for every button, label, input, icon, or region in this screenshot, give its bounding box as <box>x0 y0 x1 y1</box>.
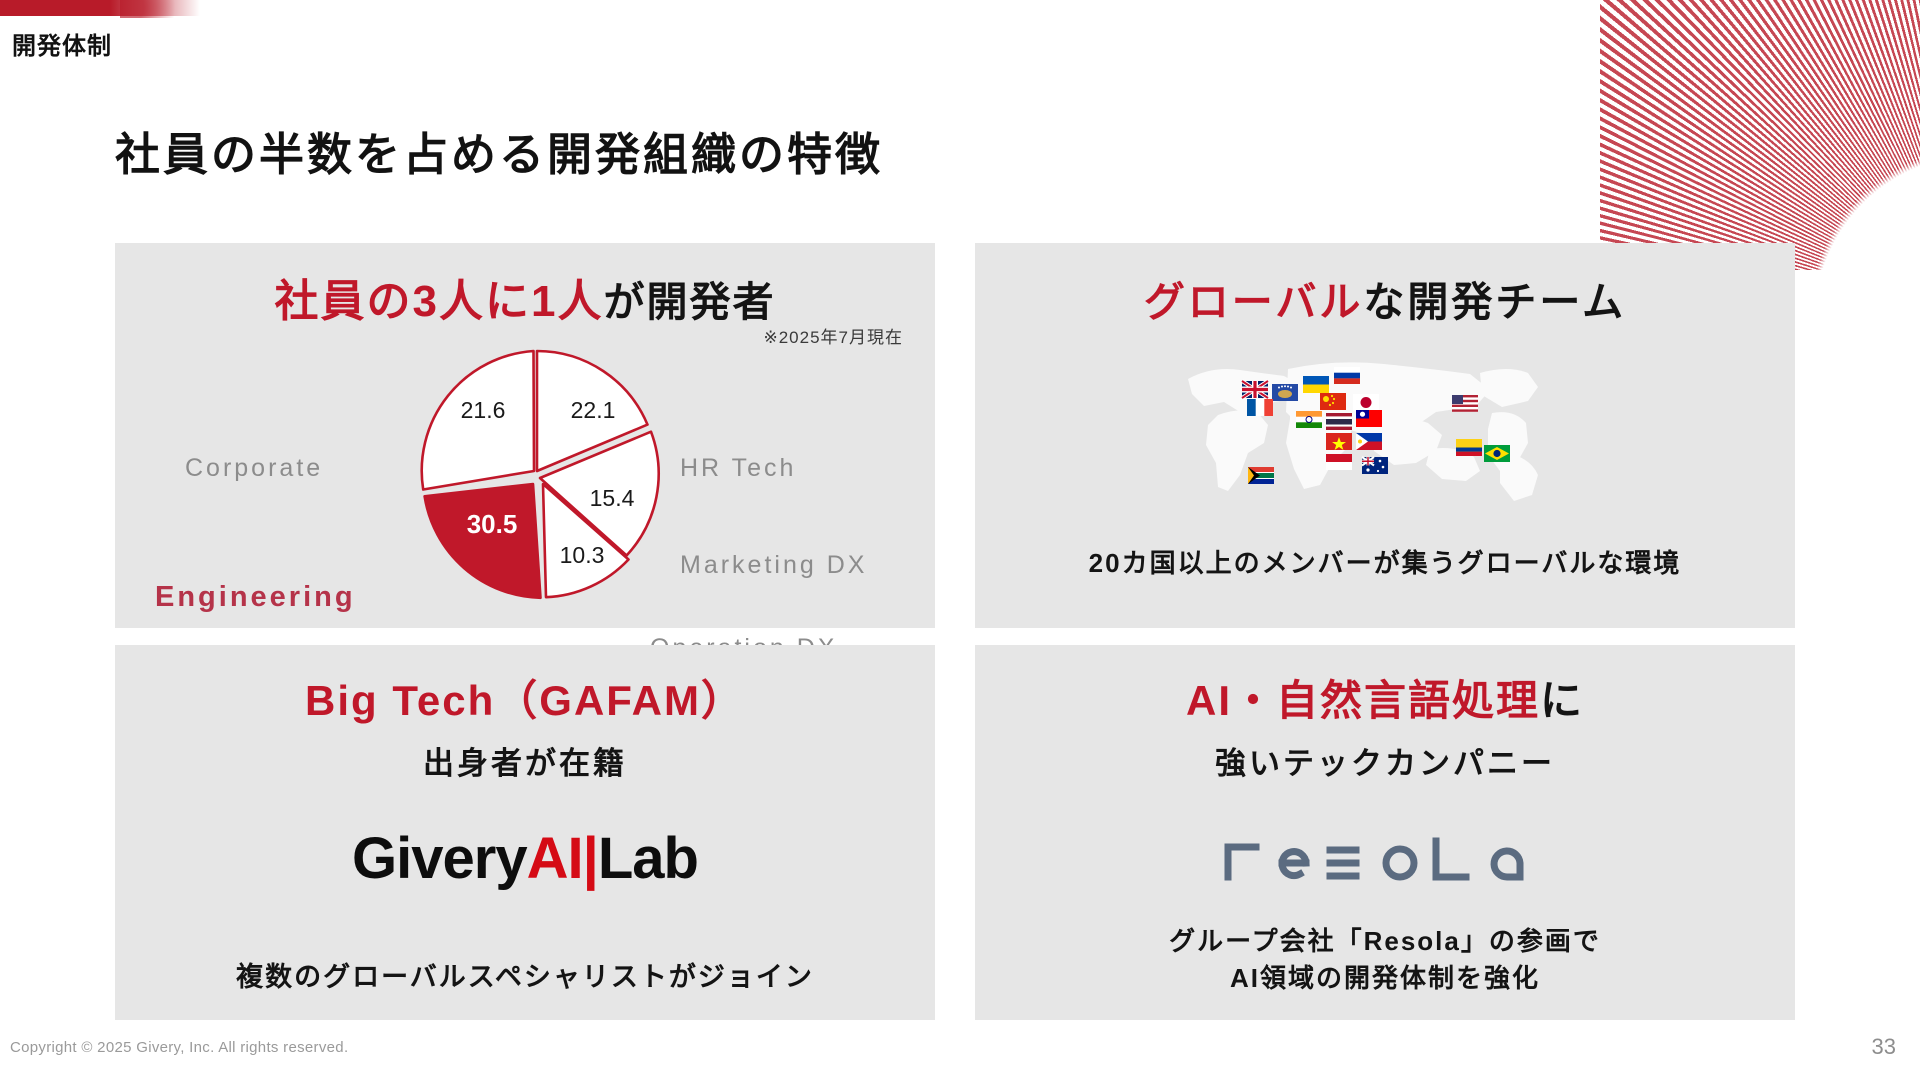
flag-colombia <box>1456 439 1482 456</box>
world-map-container <box>975 353 1795 503</box>
flag-taiwan <box>1356 410 1382 427</box>
flag-united-kingdom <box>1242 381 1268 398</box>
copyright-text: Copyright © 2025 Givery, Inc. All rights… <box>10 1039 348 1056</box>
pie-value-marketing-dx: 15.4 <box>590 485 635 511</box>
card-bl-title-line2: 出身者が在籍 <box>115 738 935 783</box>
flag-australia <box>1362 457 1388 474</box>
flag-indonesia <box>1326 454 1352 470</box>
flag-united-states <box>1452 395 1478 412</box>
page-number: 33 <box>1872 1034 1896 1060</box>
card-br-title-line1: AI・自然言語処理に <box>975 667 1795 728</box>
pie-label-hr-tech: HR Tech <box>680 454 796 483</box>
card-tr-title: グローバルな開発チーム <box>975 268 1795 328</box>
pie-chart-container: 22.1 15.4 10.3 30.5 21.6 Corporate Engin… <box>115 338 935 623</box>
pie-slice-engineering <box>425 484 541 598</box>
world-map-with-flags <box>1180 353 1590 503</box>
card-developer-ratio: 社員の3人に1人が開発者 ※2025年7月現在 22.1 15.4 10.3 3… <box>115 243 935 628</box>
flag-japan <box>1353 394 1379 411</box>
card-br-title-rest: に <box>1540 677 1584 724</box>
flag-india <box>1296 411 1322 428</box>
flag-kosovo <box>1272 384 1298 401</box>
resola-logo <box>975 825 1795 888</box>
card-br-caption-line2: AI領域の開発体制を強化 <box>975 960 1795 998</box>
card-br-title-line2: 強いテックカンパニー <box>975 738 1795 783</box>
flag-france <box>1247 399 1273 416</box>
decor-top-right-arc <box>1600 0 1920 270</box>
flag-philippines <box>1356 433 1382 450</box>
page-title: 社員の半数を占める開発組織の特徴 <box>115 118 883 183</box>
slide-kicker: 開発体制 <box>12 26 112 61</box>
card-ai-nlp: AI・自然言語処理に 強いテックカンパニー グループ会社「Resola」の参画で… <box>975 645 1795 1020</box>
givery-ai-lab-logo: GiveryAI|Lab <box>115 830 935 888</box>
decor-top-left-bar <box>0 0 200 16</box>
flag-russia <box>1334 367 1360 384</box>
pie-label-marketing-dx: Marketing DX <box>680 551 867 580</box>
pie-value-hr-tech: 22.1 <box>571 397 616 423</box>
card-tr-title-rest: な開発チーム <box>1363 279 1626 325</box>
card-br-caption: グループ会社「Resola」の参画で AI領域の開発体制を強化 <box>975 923 1795 998</box>
logo-text-ai: AI <box>527 826 583 891</box>
world-map-landmasses <box>1188 362 1538 501</box>
card-tl-title-rest: が開発者 <box>603 279 775 325</box>
resola-wordmark <box>1220 825 1550 883</box>
decor-arc-stripes <box>1600 0 1920 270</box>
pie-value-engineering: 30.5 <box>467 509 518 539</box>
logo-text-givery: Givery <box>352 826 527 891</box>
pie-label-corporate: Corporate <box>185 454 323 483</box>
card-tr-title-highlight: グローバル <box>1144 279 1364 325</box>
pie-value-corporate: 21.6 <box>461 397 506 423</box>
flag-ukraine <box>1303 376 1329 393</box>
flag-south-africa <box>1248 467 1274 484</box>
flag-vietnam <box>1326 433 1352 450</box>
pie-chart: 22.1 15.4 10.3 30.5 21.6 <box>397 338 677 618</box>
flag-brazil <box>1484 445 1510 462</box>
flag-thailand <box>1326 413 1352 430</box>
card-bl-caption: 複数のグローバルスペシャリストがジョイン <box>115 955 935 994</box>
card-br-title-highlight: AI・自然言語処理 <box>1186 677 1540 724</box>
card-tl-title: 社員の3人に1人が開発者 <box>115 265 935 329</box>
card-br-caption-line1: グループ会社「Resola」の参画で <box>975 923 1795 961</box>
card-tl-title-highlight: 社員の3人に1人 <box>275 277 604 326</box>
logo-text-lab: Lab <box>598 826 698 891</box>
card-global-team: グローバルな開発チーム <box>975 243 1795 628</box>
logo-divider-bar: | <box>583 826 598 891</box>
pie-value-operation-dx: 10.3 <box>560 542 605 568</box>
flag-china <box>1320 393 1346 410</box>
card-big-tech: Big Tech（GAFAM） 出身者が在籍 GiveryAI|Lab 複数のグ… <box>115 645 935 1020</box>
card-bl-title-line1: Big Tech（GAFAM） <box>115 667 935 728</box>
card-tr-caption: 20カ国以上のメンバーが集うグローバルな環境 <box>975 543 1795 580</box>
pie-label-engineering: Engineering <box>155 581 356 614</box>
